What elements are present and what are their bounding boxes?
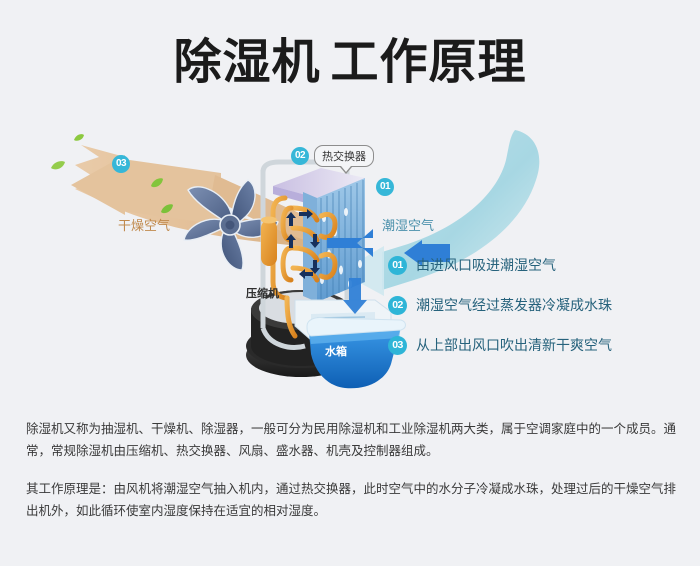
label-humid-air: 潮湿空气: [382, 215, 434, 234]
step-text: 由进风口吸进潮湿空气: [416, 255, 556, 275]
step-badge: 03: [388, 336, 407, 355]
marker-01: 01: [376, 178, 394, 196]
step-badge: 01: [388, 256, 407, 275]
step-text: 从上部出风口吹出清新干爽空气: [416, 335, 612, 355]
paragraph-principle: 其工作原理是：由风机将潮湿空气抽入机内，通过热交换器，此时空气中的水分子冷凝成水…: [26, 478, 676, 522]
page-title-part2: 工作原理: [331, 36, 527, 89]
callout-heat-exchanger: 热交换器: [314, 145, 374, 167]
step-item: 01 由进风口吸进潮湿空气: [388, 255, 688, 275]
step-item: 03 从上部出风口吹出清新干爽空气: [388, 335, 688, 355]
page-title: 除湿机工作原理: [0, 34, 700, 92]
label-dry-air: 干燥空气: [118, 215, 170, 234]
step-item: 02 潮湿空气经过蒸发器冷凝成水珠: [388, 295, 688, 315]
label-compressor: 压缩机: [246, 285, 279, 301]
leaf-icon: [50, 160, 66, 172]
step-badge: 02: [388, 296, 407, 315]
leaf-icon: [73, 133, 85, 143]
steps-list: 01 由进风口吸进潮湿空气 02 潮湿空气经过蒸发器冷凝成水珠 03 从上部出风…: [388, 255, 688, 375]
page-title-part1: 除湿机: [173, 36, 320, 89]
marker-02: 02: [291, 147, 309, 165]
step-text: 潮湿空气经过蒸发器冷凝成水珠: [416, 295, 612, 315]
marker-03: 03: [112, 155, 130, 173]
leaf-icon: [150, 177, 164, 189]
paragraph-definition: 除湿机又称为抽湿机、干燥机、除湿器，一般可分为民用除湿机和工业除湿机两大类，属于…: [26, 418, 676, 462]
label-water-tank: 水箱: [325, 343, 347, 359]
dehumidifier-infographic: 除湿机工作原理: [0, 0, 700, 566]
body-copy: 除湿机又称为抽湿机、干燥机、除湿器，一般可分为民用除湿机和工业除湿机两大类，属于…: [26, 418, 676, 522]
